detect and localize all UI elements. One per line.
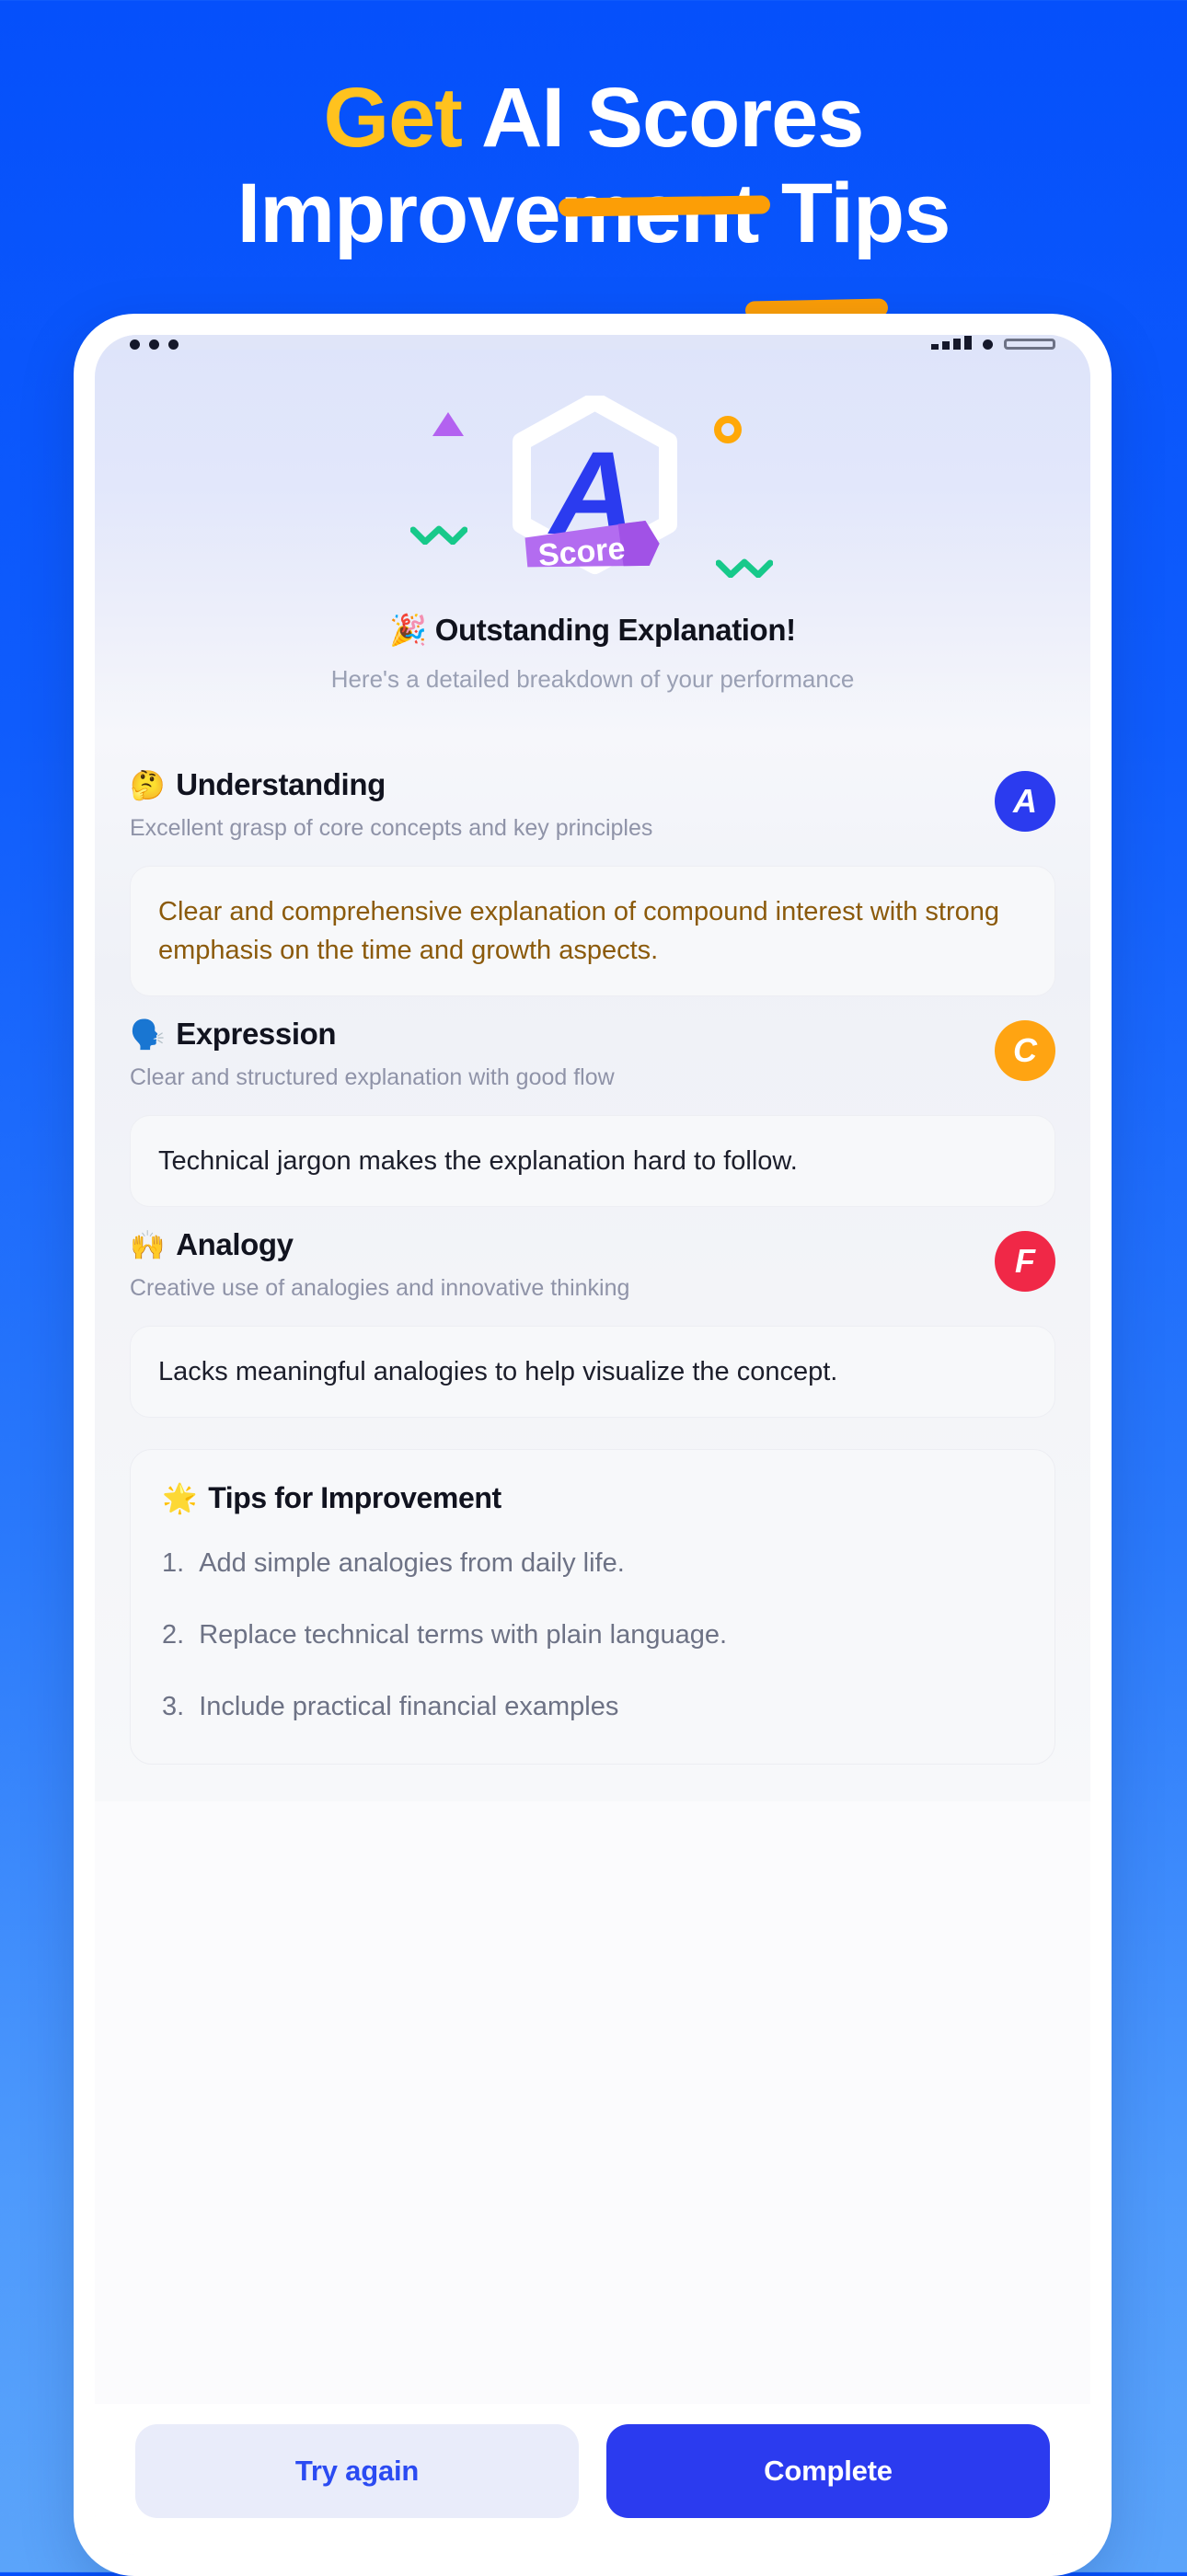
wifi-icon (130, 339, 140, 350)
section-title: Expression (176, 1017, 336, 1052)
grade-badge-f: F (995, 1231, 1055, 1292)
list-item: 3. Include practical financial examples (162, 1688, 1023, 1725)
time-indicator (168, 339, 179, 350)
section-title: Understanding (176, 767, 386, 802)
complete-button[interactable]: Complete (606, 2424, 1050, 2518)
score-ribbon-label: Score (536, 531, 626, 573)
clock-icon (149, 339, 159, 350)
action-footer: Try again Complete (95, 2404, 1090, 2555)
hero-headline: Get AI Scores Improvement Tips (0, 70, 1187, 261)
headline-line-1: Get AI Scores (0, 70, 1187, 166)
tip-number: 3. (162, 1688, 184, 1725)
battery-icon (1004, 339, 1055, 350)
grade-badge-c: C (995, 1020, 1055, 1081)
tips-title-label: Tips for Improvement (208, 1481, 501, 1515)
tip-text: Include practical financial examples (199, 1688, 618, 1725)
headline-highlight: Get (324, 71, 462, 165)
underline-stroke-1 (559, 195, 770, 216)
hexagon-a-score-icon: A Score (510, 396, 680, 585)
tips-list: 1. Add simple analogies from daily life.… (162, 1545, 1023, 1725)
signal-icon (931, 336, 972, 350)
section-feedback: Clear and comprehensive explanation of c… (130, 866, 1055, 996)
tip-number: 2. (162, 1616, 184, 1653)
circle-orange-icon (714, 416, 742, 443)
score-sections: 🤔 Understanding Excellent grasp of core … (95, 734, 1090, 1801)
phone-mockup: A Score 🎉 Outstanding Explanation! Here'… (74, 314, 1112, 2576)
result-scroll-area[interactable]: A Score 🎉 Outstanding Explanation! Here'… (95, 335, 1090, 2404)
zigzag-green-icon (410, 524, 467, 545)
wifi-signal-icon (983, 339, 993, 350)
list-item: 1. Add simple analogies from daily life. (162, 1545, 1023, 1581)
section-expression: 🗣️ Expression Clear and structured expla… (95, 996, 1090, 1207)
tip-text: Add simple analogies from daily life. (199, 1545, 625, 1581)
section-feedback: Lacks meaningful analogies to help visua… (130, 1326, 1055, 1418)
result-title: 🎉 Outstanding Explanation! (95, 613, 1090, 649)
thinking-face-icon: 🤔 (130, 771, 165, 799)
section-description: Excellent grasp of core concepts and key… (130, 815, 976, 842)
try-again-button[interactable]: Try again (135, 2424, 579, 2518)
section-title: Analogy (176, 1227, 293, 1262)
tip-number: 1. (162, 1545, 184, 1581)
tips-card: 🌟 Tips for Improvement 1. Add simple ana… (130, 1449, 1055, 1765)
score-badge-illustration: A Score (399, 396, 786, 598)
status-bar (95, 335, 1090, 350)
phone-screen: A Score 🎉 Outstanding Explanation! Here'… (95, 335, 1090, 2555)
result-subtitle: Here's a detailed breakdown of your perf… (95, 665, 1090, 694)
speaking-head-icon: 🗣️ (130, 1020, 165, 1049)
zigzag-green-icon (716, 558, 773, 578)
glowing-star-icon: 🌟 (162, 1484, 197, 1512)
raising-hands-icon: 🙌 (130, 1231, 165, 1259)
section-understanding: 🤔 Understanding Excellent grasp of core … (95, 747, 1090, 996)
list-item: 2. Replace technical terms with plain la… (162, 1616, 1023, 1653)
headline-rest: AI Scores (462, 71, 864, 165)
section-analogy: 🙌 Analogy Creative use of analogies and … (95, 1207, 1090, 1418)
section-feedback: Technical jargon makes the explanation h… (130, 1115, 1055, 1207)
grade-badge-a: A (995, 771, 1055, 832)
triangle-purple-icon (432, 412, 464, 436)
result-header: A Score 🎉 Outstanding Explanation! Here'… (95, 335, 1090, 734)
tips-section: 🌟 Tips for Improvement 1. Add simple ana… (95, 1418, 1090, 1801)
section-description: Creative use of analogies and innovative… (130, 1275, 976, 1302)
tip-text: Replace technical terms with plain langu… (199, 1616, 727, 1653)
section-description: Clear and structured explanation with go… (130, 1064, 976, 1091)
